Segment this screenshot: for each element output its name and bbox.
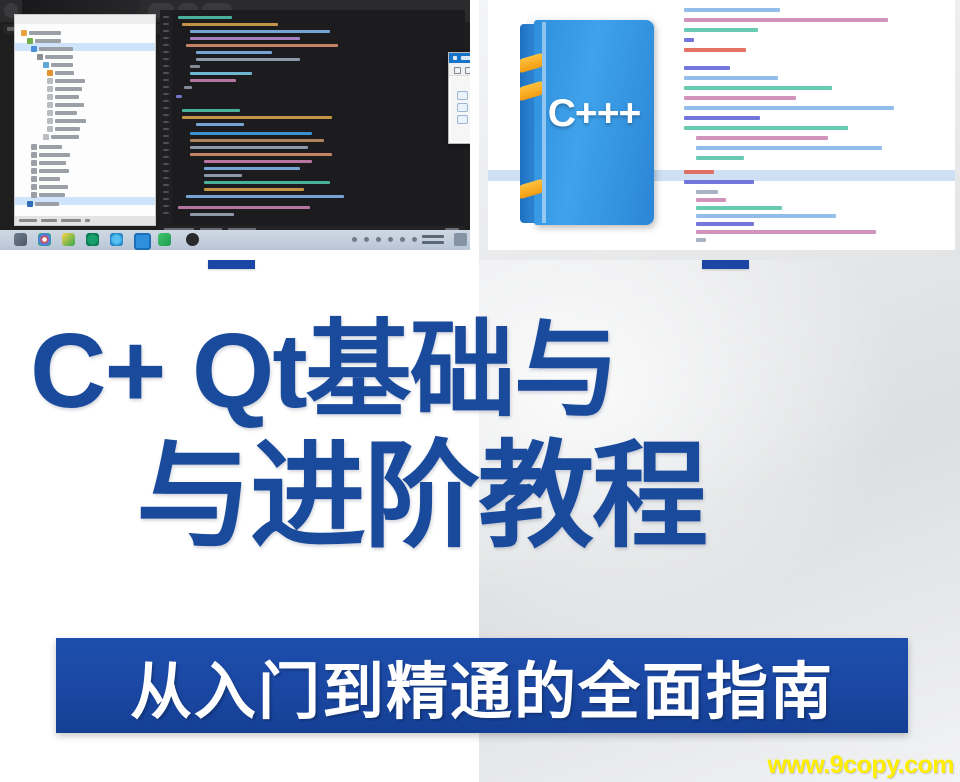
tree-item[interactable]	[31, 159, 66, 166]
file-picker-dialog[interactable]	[448, 52, 470, 144]
dialog-title-bar	[449, 53, 470, 63]
tree-item[interactable]	[31, 151, 70, 158]
editor-gutter	[160, 10, 172, 225]
edge-icon[interactable]	[110, 233, 123, 246]
title-line-2: 与进阶教程	[136, 438, 706, 554]
cpp-book-screenshot-panel: C+++	[488, 0, 955, 250]
app-icon-dark[interactable]	[186, 233, 199, 246]
accent-bar-left	[208, 260, 255, 269]
tree-item[interactable]	[31, 175, 60, 182]
tree-item[interactable]	[47, 69, 74, 76]
tree-item[interactable]	[31, 143, 62, 150]
tree-item[interactable]	[43, 133, 79, 140]
ide-screenshot-panel	[0, 0, 470, 250]
chrome-icon[interactable]	[38, 233, 51, 246]
tree-item[interactable]	[47, 109, 77, 116]
tree-item[interactable]	[43, 61, 73, 68]
app-icon-green[interactable]	[62, 233, 75, 246]
tree-item[interactable]	[47, 117, 86, 124]
tree-item[interactable]	[47, 125, 80, 132]
explorer-footer	[15, 216, 155, 225]
tree-item[interactable]	[31, 45, 73, 52]
tree-item[interactable]	[21, 29, 61, 36]
accent-bar-right	[702, 260, 749, 269]
ide-code-editor[interactable]	[160, 10, 465, 225]
explorer-header	[15, 15, 155, 24]
tree-item[interactable]	[31, 191, 65, 198]
dialog-toolbar[interactable]	[449, 63, 470, 76]
title-line-1: C+ Qt基础与	[30, 318, 618, 424]
tree-item[interactable]	[47, 93, 79, 100]
windows-taskbar[interactable]	[0, 230, 470, 250]
tree-item[interactable]	[27, 200, 59, 207]
subtitle-banner-text: 从入门到精通的全面指南	[130, 641, 834, 731]
book-title-label: C+++	[534, 92, 654, 136]
cpp-book-illustration: C+++	[516, 14, 666, 229]
tree-item[interactable]	[27, 37, 61, 44]
site-watermark: www.9copy.com	[767, 751, 954, 780]
tree-item[interactable]	[47, 85, 82, 92]
app-icon-teal[interactable]	[86, 233, 99, 246]
tree-item[interactable]	[37, 53, 73, 60]
notification-icon[interactable]	[454, 233, 467, 246]
tree-item[interactable]	[47, 77, 85, 84]
app-icon-green2[interactable]	[158, 233, 171, 246]
tree-item[interactable]	[47, 101, 84, 108]
tree-item[interactable]	[31, 183, 68, 190]
subtitle-banner: 从入门到精通的全面指南	[56, 638, 908, 733]
ide-file-explorer[interactable]	[14, 14, 156, 226]
poster-canvas: C+++ C+ Qt基础与 与进阶教程 从入门到精通的	[0, 0, 960, 782]
taskview-icon[interactable]	[14, 233, 27, 246]
dialog-sidebar[interactable]	[451, 77, 470, 141]
vscode-icon[interactable]	[134, 233, 151, 250]
tree-item[interactable]	[31, 167, 69, 174]
